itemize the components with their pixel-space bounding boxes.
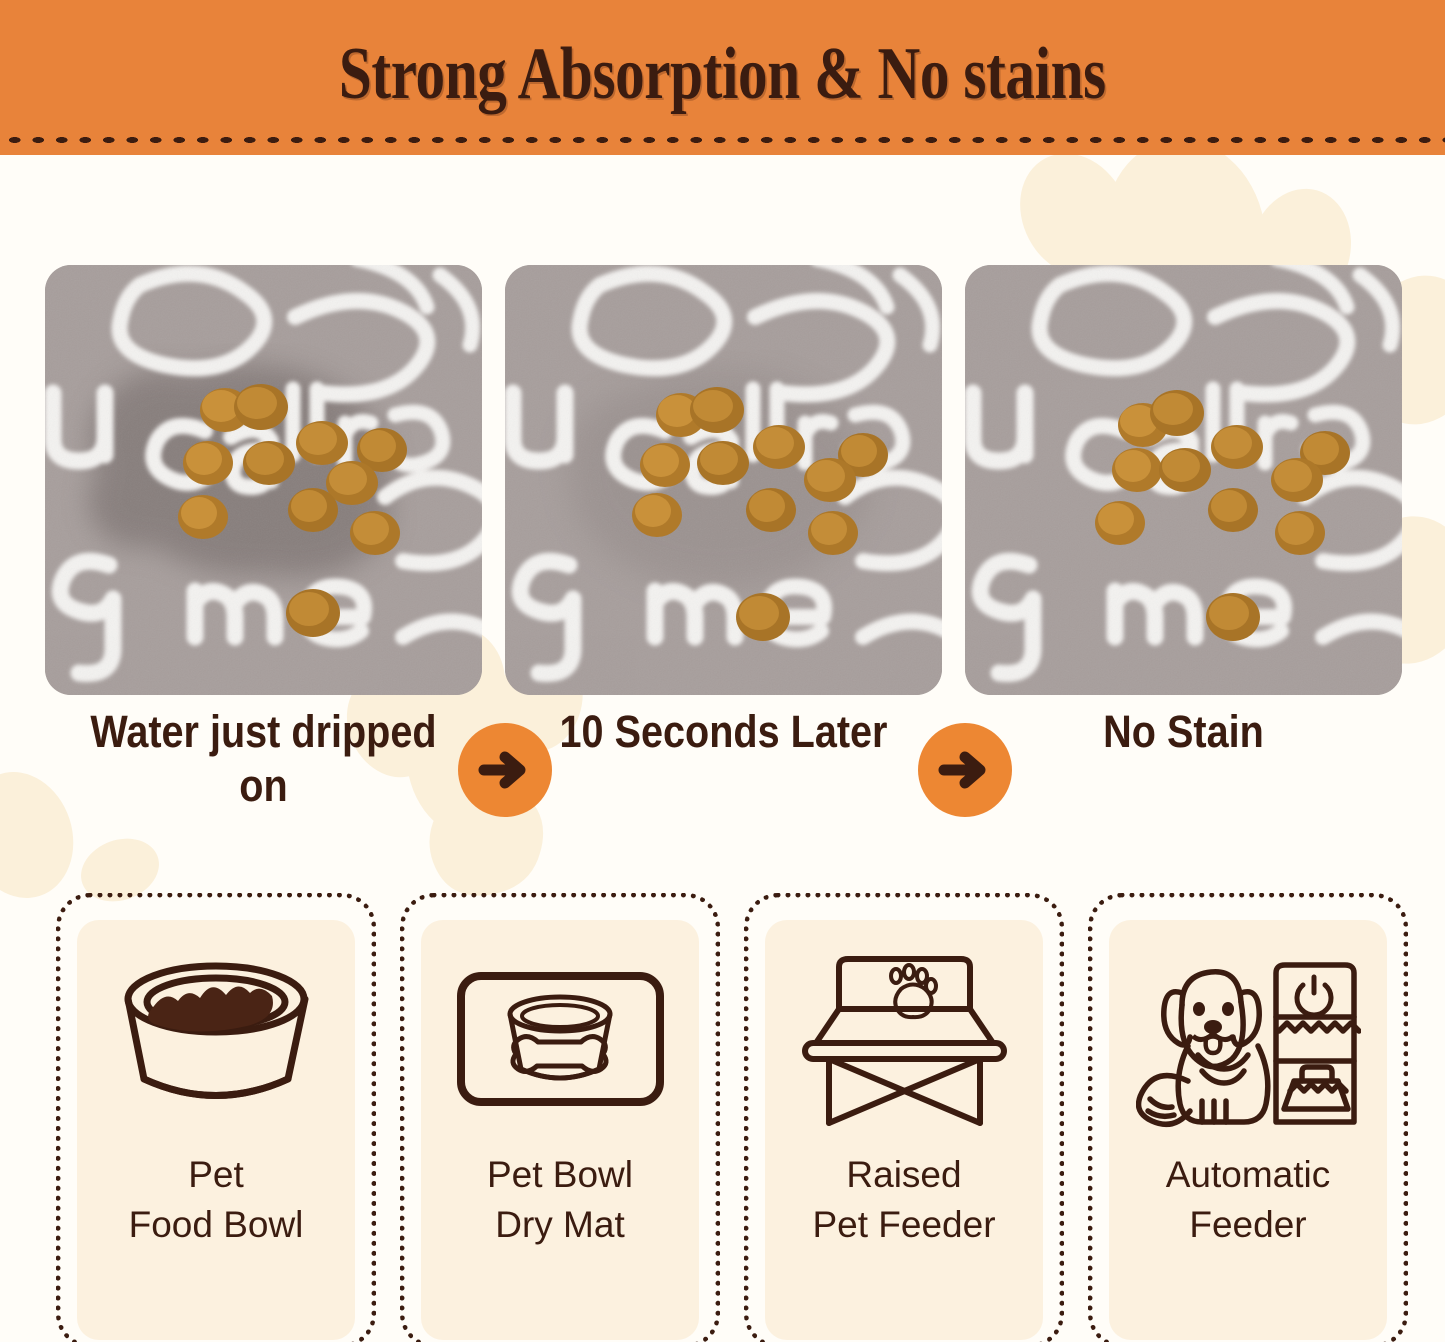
absorption-demo-photos	[0, 265, 1445, 695]
use-case-label: Pet Bowl Dry Mat	[487, 1150, 633, 1250]
raised-pet-feeder-icon	[789, 946, 1019, 1136]
use-case-card-pet-bowl-dry-mat[interactable]: Pet Bowl Dry Mat	[400, 893, 720, 1342]
automatic-feeder-icon	[1133, 946, 1363, 1136]
pet-food-bowl-icon	[101, 946, 331, 1136]
page-title: Strong Absorption & No stains	[339, 32, 1106, 117]
use-case-label: Automatic Feeder	[1166, 1150, 1331, 1250]
use-case-card-automatic-feeder[interactable]: Automatic Feeder	[1088, 893, 1408, 1342]
demo-photo-no-stain	[965, 265, 1402, 695]
header-bottom-edge	[0, 152, 1445, 155]
pet-bowl-dry-mat-icon	[445, 946, 675, 1136]
caption-no-stain: No Stain	[991, 705, 1376, 759]
infographic-page: Strong Absorption & No stains	[0, 0, 1445, 1342]
use-case-card-pet-food-bowl[interactable]: Pet Food Bowl	[56, 893, 376, 1342]
use-case-card-raised-pet-feeder[interactable]: Raised Pet Feeder	[744, 893, 1064, 1342]
demo-captions: Water just dripped on 10 Seconds Later N…	[0, 705, 1445, 825]
demo-photo-water-dripped	[45, 265, 482, 695]
use-case-cards: Pet Food Bowl	[0, 893, 1445, 1342]
demo-photo-ten-seconds	[505, 265, 942, 695]
header-banner: Strong Absorption & No stains	[0, 0, 1445, 155]
header-dotted-divider	[0, 134, 1445, 146]
kibble-pieces	[965, 265, 1402, 695]
use-case-label: Pet Food Bowl	[129, 1150, 304, 1250]
caption-water-dripped: Water just dripped on	[71, 705, 456, 813]
kibble-pieces	[45, 265, 482, 695]
use-case-label: Raised Pet Feeder	[812, 1150, 995, 1250]
caption-ten-seconds: 10 Seconds Later	[531, 705, 916, 759]
kibble-pieces	[505, 265, 942, 695]
